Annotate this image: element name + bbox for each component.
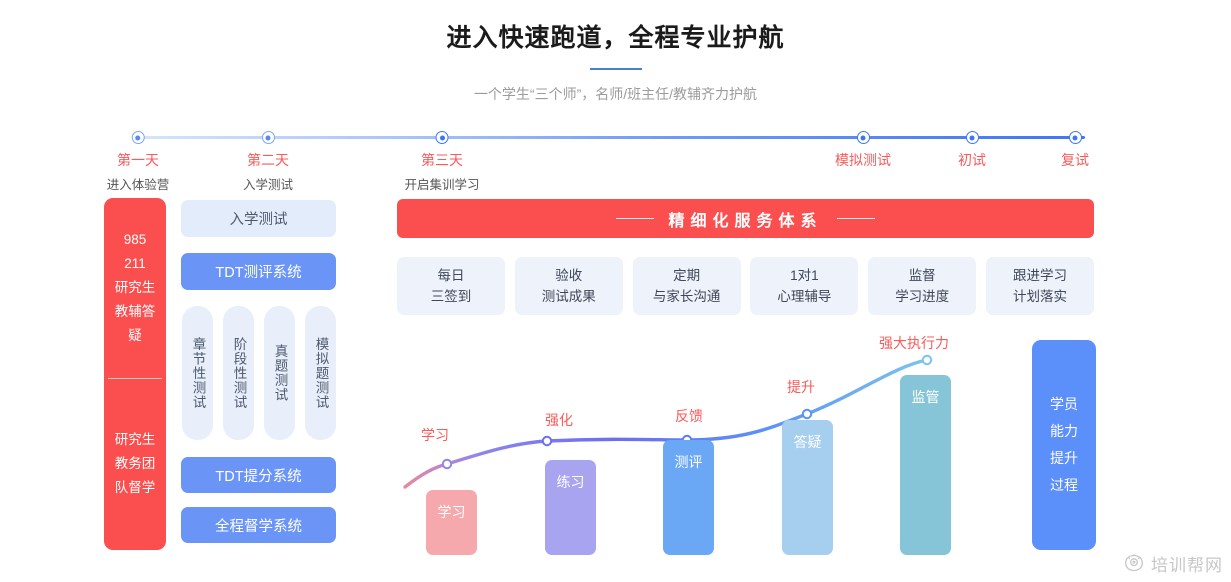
curve-label-1: 学习	[421, 425, 449, 445]
timeline-node-4[interactable]: 模拟测试	[835, 128, 891, 174]
timeline-node-6[interactable]: 复试	[1061, 128, 1089, 174]
entry-test-box[interactable]: 入学测试	[181, 200, 336, 237]
support-line: 疑	[128, 324, 142, 348]
timeline-dot-icon	[435, 131, 448, 144]
support-team-section-bottom: 研究生 教务团 队督学	[104, 378, 166, 550]
card-line-2: 计划落实	[1013, 286, 1067, 307]
timeline-node-3[interactable]: 第三天 开启集训学习	[404, 128, 479, 193]
vertical-test-stage[interactable]: 阶段性测试	[223, 306, 254, 440]
title-divider	[590, 68, 642, 70]
timeline-node-label: 第二天	[243, 150, 293, 170]
support-line: 研究生	[115, 428, 156, 452]
curve-label-3: 反馈	[675, 406, 703, 426]
support-line: 研究生	[115, 276, 156, 300]
timeline-node-label: 模拟测试	[835, 150, 891, 170]
timeline-node-label: 第一天	[107, 150, 170, 170]
support-line: 教辅答	[115, 300, 156, 324]
card-line-2: 与家长沟通	[653, 286, 721, 307]
service-card[interactable]: 1对1 心理辅导	[750, 257, 858, 315]
card-line-1: 定期	[673, 265, 700, 286]
curve-label-5: 强大执行力	[879, 333, 949, 353]
vertical-test-real[interactable]: 真题测试	[264, 306, 295, 440]
support-team-section-top: 985 211 研究生 教辅答 疑	[104, 198, 166, 378]
service-card[interactable]: 每日 三签到	[397, 257, 505, 315]
ability-growth-chart: 学习 强化 反馈 提升 强大执行力 学习 练习 测评 答疑 监管	[397, 330, 997, 555]
page-title: 进入快速跑道，全程专业护航	[0, 18, 1231, 54]
bar-practice: 练习	[545, 460, 596, 555]
ability-process-box: 学员 能力 提升 过程	[1032, 340, 1096, 550]
process-line: 过程	[1050, 472, 1078, 499]
vertical-test-chapter[interactable]: 章节性测试	[182, 306, 213, 440]
support-line: 985	[124, 228, 147, 252]
timeline-dot-icon	[966, 131, 979, 144]
banner-rule-left	[616, 218, 654, 220]
timeline-node-2[interactable]: 第二天 入学测试	[243, 128, 293, 193]
vertical-test-group: 章节性测试 阶段性测试 真题测试 模拟题测试	[181, 306, 336, 440]
card-line-2: 学习进度	[895, 286, 949, 307]
card-line-1: 验收	[555, 265, 582, 286]
curve-marker-1	[443, 460, 451, 468]
bar-answer: 答疑	[782, 420, 833, 555]
timeline-dot-icon	[1069, 131, 1082, 144]
banner-title: 精细化服务体系	[668, 207, 822, 231]
vertical-test-mock[interactable]: 模拟题测试	[305, 306, 336, 440]
timeline-dot-icon	[131, 131, 144, 144]
promo-infographic: 进入快速跑道，全程专业护航 一个学生“三个师”，名师/班主任/教辅齐力护航 第一…	[0, 0, 1231, 582]
tdt-score-system-box[interactable]: TDT提分系统	[181, 457, 336, 493]
curve-label-4: 提升	[787, 377, 815, 397]
eye-face-icon	[1124, 553, 1144, 573]
curve-label-2: 强化	[545, 410, 573, 430]
support-line: 教务团	[115, 452, 156, 476]
card-line-2: 心理辅导	[777, 286, 831, 307]
process-line: 提升	[1050, 445, 1078, 472]
service-card[interactable]: 验收 测试成果	[515, 257, 623, 315]
service-card[interactable]: 跟进学习 计划落实	[986, 257, 1094, 315]
timeline-node-5[interactable]: 初试	[958, 128, 986, 174]
tdt-eval-system-box[interactable]: TDT测评系统	[181, 253, 336, 290]
curve-marker-4	[803, 410, 811, 418]
process-line: 学员	[1050, 391, 1078, 418]
service-card[interactable]: 监督 学习进度	[868, 257, 976, 315]
tdt-supervise-system-box[interactable]: 全程督学系统	[181, 507, 336, 543]
bar-study: 学习	[426, 490, 477, 555]
system-column: 入学测试 TDT测评系统 章节性测试 阶段性测试 真题测试 模拟题测试 TDT提…	[181, 200, 336, 550]
timeline-node-label: 第三天	[404, 150, 479, 170]
support-team-panel: 985 211 研究生 教辅答 疑 研究生 教务团 队督学	[104, 198, 166, 550]
curve-marker-2	[543, 437, 551, 445]
banner-rule-right	[837, 218, 875, 220]
card-line-1: 每日	[438, 265, 465, 286]
service-system-banner: 精细化服务体系	[397, 199, 1094, 238]
timeline-dot-icon	[857, 131, 870, 144]
bar-supervise: 监管	[900, 375, 951, 555]
timeline-dot-icon	[261, 131, 274, 144]
process-line: 能力	[1050, 418, 1078, 445]
card-line-1: 1对1	[790, 265, 819, 286]
card-line-1: 跟进学习	[1013, 265, 1067, 286]
card-line-2: 测试成果	[542, 286, 596, 307]
curve-marker-5	[923, 356, 931, 364]
support-line: 211	[124, 252, 146, 276]
support-line: 队督学	[115, 476, 156, 500]
card-line-2: 三签到	[431, 286, 472, 307]
timeline-node-1[interactable]: 第一天 进入体验营	[107, 128, 170, 193]
timeline-node-sublabel: 进入体验营	[107, 174, 170, 193]
page-subtitle: 一个学生“三个师”，名师/班主任/教辅齐力护航	[0, 84, 1231, 104]
card-line-1: 监督	[909, 265, 936, 286]
watermark-text: 培训帮网	[1151, 551, 1223, 576]
timeline-node-label: 初试	[958, 150, 986, 170]
service-card[interactable]: 定期 与家长沟通	[633, 257, 741, 315]
watermark: 培训帮网	[1124, 550, 1223, 576]
timeline-node-sublabel: 开启集训学习	[404, 174, 479, 193]
timeline-node-sublabel: 入学测试	[243, 174, 293, 193]
bar-evaluate: 测评	[663, 440, 714, 555]
service-card-row: 每日 三签到 验收 测试成果 定期 与家长沟通 1对1 心理辅导 监督 学习进度…	[397, 257, 1094, 315]
timeline-node-label: 复试	[1061, 150, 1089, 170]
timeline: 第一天 进入体验营 第二天 入学测试 第三天 开启集训学习 模拟测试 初试 复试	[110, 128, 1085, 186]
